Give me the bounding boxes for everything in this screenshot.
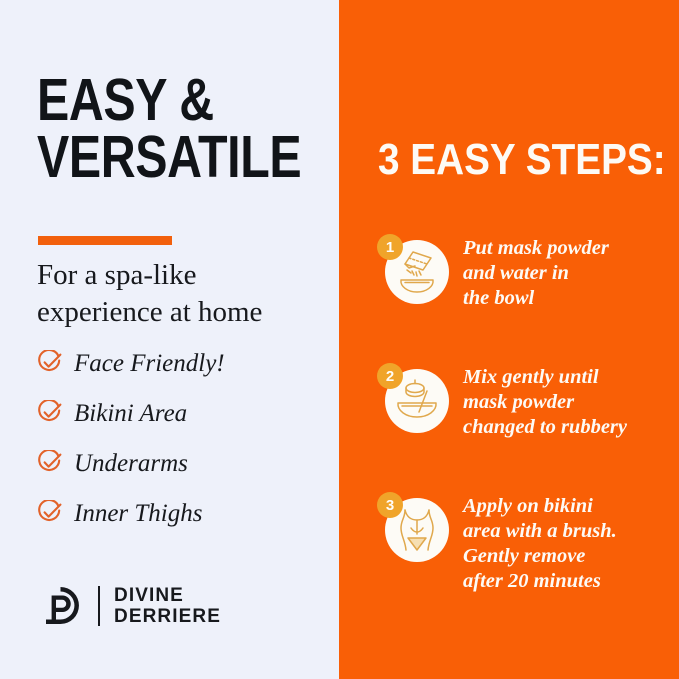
check-circle-icon [37,350,63,376]
step-icon-wrap: 2 [377,361,449,439]
steps-list: 1 Put mask powder and water in the bowl [377,232,667,644]
logo-divider [98,586,100,626]
left-panel: EASY & VERSATILE For a spa-like experien… [0,0,339,679]
product-infographic: EASY & VERSATILE For a spa-like experien… [0,0,679,679]
benefits-checklist: Face Friendly! Bikini Area Underarms [37,338,317,538]
check-circle-icon [37,450,63,476]
step-number-badge: 3 [377,492,403,518]
right-panel: 3 EASY STEPS: [339,0,679,679]
step-item: 3 Apply on bikini area with a brush. Gen… [377,490,667,594]
step-number-badge: 2 [377,363,403,389]
list-item: Inner Thighs [37,488,317,538]
step-item: 2 Mix gently until mask powder changed t… [377,361,667,440]
list-item-label: Underarms [74,451,188,476]
check-circle-icon [37,400,63,426]
step-number-badge: 1 [377,234,403,260]
list-item-label: Face Friendly! [74,351,225,376]
brand-logo: DIVINE DERRIERE [37,583,221,629]
steps-title: 3 EASY STEPS: [378,138,666,182]
subtitle: For a spa-like experience at home [37,257,312,330]
step-description: Mix gently until mask powder changed to … [449,361,627,440]
step-icon-wrap: 1 [377,232,449,310]
brand-name: DIVINE DERRIERE [114,585,221,628]
list-item: Face Friendly! [37,338,317,388]
list-item: Underarms [37,438,317,488]
list-item: Bikini Area [37,388,317,438]
step-icon-wrap: 3 [377,490,449,568]
step-description: Apply on bikini area with a brush. Gentl… [449,490,617,594]
list-item-label: Inner Thighs [74,501,202,526]
step-item: 1 Put mask powder and water in the bowl [377,232,667,311]
list-item-label: Bikini Area [74,401,187,426]
page-title: EASY & VERSATILE [37,72,267,185]
divine-derriere-monogram-icon [37,583,83,629]
check-circle-icon [37,500,63,526]
accent-divider-bar [38,236,172,245]
step-description: Put mask powder and water in the bowl [449,232,609,311]
